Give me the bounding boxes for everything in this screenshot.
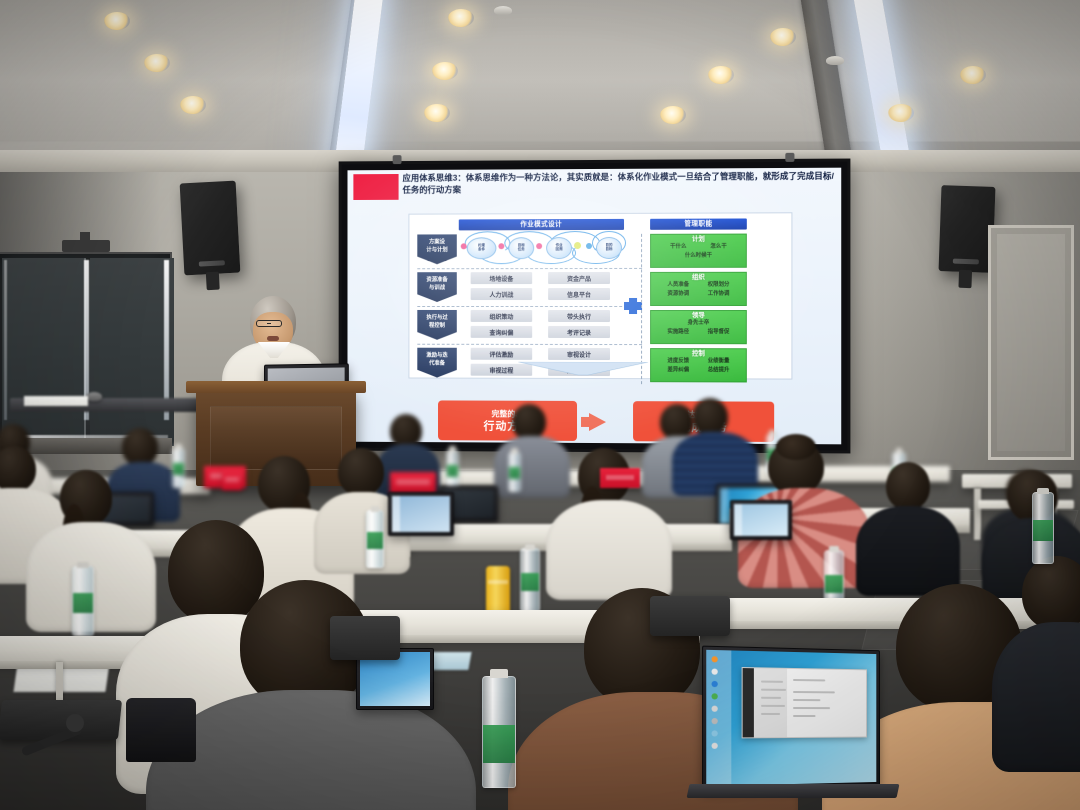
media-icon[interactable] xyxy=(712,706,718,712)
stage-tag-3: 执行与过 程控制 xyxy=(417,310,456,340)
mgmt-function-lead: 领导 身先士卒 实施路径指导督促 xyxy=(650,310,747,344)
ops-cell: 组织策动 xyxy=(471,310,533,322)
banner-left: 完整的、 行动方案 xyxy=(438,400,577,440)
mgmt-function-control: 控制 进度反馈业绩衡量 差异纠偏总结提升 xyxy=(650,348,747,382)
ops-cell: 场地设备 xyxy=(471,272,533,284)
mgmt-panel-header: 管理职能 xyxy=(650,218,747,229)
folder-icon[interactable] xyxy=(712,669,718,675)
wall-speaker-left xyxy=(180,181,241,276)
stage-tag-line: 方案设 xyxy=(426,239,447,246)
flow-node: 目的 目标 xyxy=(596,237,622,259)
water-bottle[interactable] xyxy=(366,510,384,568)
chair[interactable] xyxy=(330,616,400,660)
laptop-desktop[interactable] xyxy=(706,650,876,786)
banner-arrow-head-icon xyxy=(589,413,606,431)
ops-cell: 评估激励 xyxy=(471,348,533,360)
name-card xyxy=(222,470,242,490)
stage-tag-line: 计与计划 xyxy=(426,247,447,254)
water-bottle[interactable] xyxy=(520,548,540,612)
settings-icon[interactable] xyxy=(712,718,718,724)
wall-speaker-right xyxy=(939,185,996,273)
ceiling-downlight xyxy=(708,66,734,84)
table-leg xyxy=(974,488,981,540)
mgmt-function-organize: 组织 人员准备权限划分 资源协调工作协调 xyxy=(650,272,747,306)
store-icon[interactable] xyxy=(712,730,718,736)
water-bottle[interactable] xyxy=(446,450,459,490)
mgmt-function-plan: 计划 干什么怎么干 什么时候干 xyxy=(650,234,747,268)
stage-tag-2: 资源准备 与训战 xyxy=(417,272,456,302)
down-arrow-icon xyxy=(518,362,648,376)
taskbar-icon-column[interactable] xyxy=(706,650,731,786)
ceiling-downlight xyxy=(144,54,170,72)
plus-connector-icon xyxy=(624,302,642,310)
slide-accent-swatch xyxy=(353,174,398,200)
flow-node: 作业 回溯 xyxy=(546,237,572,259)
stage-tag-1: 方案设 计与计划 xyxy=(417,234,456,264)
flow-node: 约束 条件 xyxy=(467,237,497,259)
slide-diagram: 作业模式设计 管理职能 方案设 计与计划 xyxy=(408,212,792,379)
ceiling-downlight xyxy=(104,12,130,30)
ceiling-downlight xyxy=(660,106,686,124)
name-card xyxy=(600,468,640,488)
water-bottle[interactable] xyxy=(482,676,516,788)
water-bottle[interactable] xyxy=(508,452,521,492)
ceiling-downlight xyxy=(960,66,986,84)
ops-cell: 查询纠偏 xyxy=(471,326,533,338)
window-sidebar-dark[interactable] xyxy=(743,668,755,737)
mail-icon[interactable] xyxy=(712,743,718,749)
chair[interactable] xyxy=(650,596,730,636)
window-mount-stem xyxy=(80,232,90,244)
presentation-slide: 应用体系思维3：体系思维作为一种方法论，其实质就是：体系化作业模式一旦结合了管理… xyxy=(347,168,841,445)
ops-cell: 考评记录 xyxy=(548,326,610,338)
projection-screen: 应用体系思维3：体系思维作为一种方法论，其实质就是：体系化作业模式一旦结合了管理… xyxy=(339,159,851,454)
door[interactable] xyxy=(988,225,1074,460)
ceiling xyxy=(0,0,1080,172)
ops-cell: 审视设计 xyxy=(548,348,610,360)
ops-cell: 带头执行 xyxy=(548,310,610,322)
eyeglasses-icon xyxy=(256,320,282,327)
window-with-blinds xyxy=(0,252,172,452)
window-sidebar[interactable] xyxy=(754,668,787,737)
presenter-mouth xyxy=(267,336,279,341)
smoke-detector-icon xyxy=(494,6,512,15)
ceiling-downlight xyxy=(424,104,450,122)
browser-icon[interactable] xyxy=(712,656,718,662)
messenger-icon[interactable] xyxy=(712,681,718,687)
editor-icon[interactable] xyxy=(712,693,718,699)
name-card xyxy=(390,472,436,494)
ceiling-downlight xyxy=(432,62,458,80)
ops-cell: 人力训战 xyxy=(471,288,533,300)
ops-cell: 信息平台 xyxy=(548,288,610,300)
ceiling-downlight xyxy=(770,28,796,46)
cyclic-flow-diagram: 约束 条件 目标 任务 作业 xyxy=(461,234,626,262)
flow-node: 目标 任务 xyxy=(508,237,534,259)
ceiling-downlight xyxy=(180,96,206,114)
stage-tag-4: 激励与迭 代准备 xyxy=(417,348,456,378)
slide-title-bar: 应用体系思维3：体系思维作为一种方法论，其实质就是：体系化作业模式一旦结合了管理… xyxy=(347,172,841,208)
backpack[interactable] xyxy=(126,698,196,762)
laptop-keyboard-base[interactable] xyxy=(687,784,900,798)
presenter-mouse[interactable] xyxy=(86,392,102,401)
ops-cell: 资金产品 xyxy=(548,272,610,284)
water-bottle[interactable] xyxy=(172,448,185,488)
conference-room-scene: 应用体系思维3：体系思维作为一种方法论，其实质就是：体系化作业模式一旦结合了管理… xyxy=(0,0,1080,810)
open-application-window[interactable] xyxy=(742,667,867,738)
water-bottle[interactable] xyxy=(1032,492,1054,564)
water-bottle[interactable] xyxy=(72,566,94,636)
smoke-detector-icon xyxy=(826,56,844,65)
ceiling-downlight xyxy=(888,104,914,122)
slide-title: 应用体系思维3：体系思维作为一种方法论，其实质就是：体系化作业模式一旦结合了管理… xyxy=(403,171,838,196)
microphone-head-icon xyxy=(66,714,84,732)
ops-panel-header: 作业模式设计 xyxy=(459,219,624,231)
presenter-notes xyxy=(24,396,88,406)
ceiling-downlight xyxy=(448,9,474,27)
